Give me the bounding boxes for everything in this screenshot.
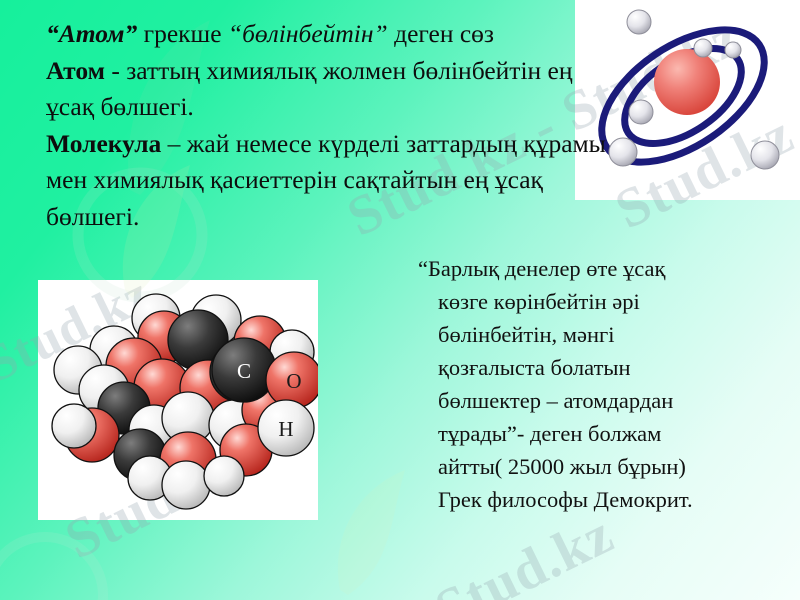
quote-attribution: Грек философы Демокрит. [418,483,790,516]
electron [694,39,712,57]
electron [725,42,741,58]
definition-line-6: бөлшегі. [46,199,606,236]
electron [627,10,651,34]
quote-line: “Барлық денелер өте ұсақ [418,252,790,285]
carbon-label: C [237,359,251,383]
definition-line-4-tail: – жай немесе күрделі заттардың құрамы [161,129,606,158]
atom-nucleus [654,49,720,115]
molecule-model: C O H [38,280,318,520]
electron [609,138,637,166]
quote-line: тұрады”- деген болжам [418,417,790,450]
indivisible-word: “бөлінбейтін” [228,19,388,48]
electron [629,100,653,124]
quote-line: бөлшектер – атомдардан [418,384,790,417]
leaf-logo-watermark-icon [0,520,120,600]
atom-term-greek: “Атом” [46,19,137,48]
molecule-model-svg: C O H [38,280,318,520]
definition-line-2-tail: - заттың химиялық жолмен бөлінбейтін ең [105,56,573,85]
atom-term: Атом [46,56,105,85]
electron [751,141,779,169]
hydrogen-label: H [278,417,293,441]
quote-line: бөлінбейтін, мәнгі [418,318,790,351]
definition-line-4: Молекула – жай немесе күрделі заттардың … [46,126,606,163]
slide-canvas: Stud.kz - Stud.kz Stud.kz Stud.kz Stud.k… [0,0,800,600]
definition-line-5: мен химиялық қасиеттерін сақтайтын ең ұс… [46,162,606,199]
molecule-term: Молекула [46,129,161,158]
oxygen-label: O [286,369,301,393]
definition-line-1: “Атом” грекше “бөлінбейтін” деген сөз [46,16,606,53]
definition-line-1-tail: деген сөз [388,19,494,48]
democritus-quote-block: “Барлық денелер өте ұсақ көзге көрінбейт… [418,252,790,516]
definition-line-2: Атом - заттың химиялық жолмен бөлінбейті… [46,53,606,90]
quote-line: қозғалыста болатын [418,351,790,384]
greek-word: грекше [137,19,228,48]
watermark-bottom: Stud.kz [426,502,624,600]
definition-text-block: “Атом” грекше “бөлінбейтін” деген сөз Ат… [46,16,606,235]
definition-line-3: ұсақ бөлшегі. [46,89,606,126]
quote-line: айтты( 25000 жыл бұрын) [418,450,790,483]
atom-diagram-svg [575,0,800,200]
quote-line: көзге көрінбейтін әрі [418,285,790,318]
atom-diagram [575,0,800,200]
